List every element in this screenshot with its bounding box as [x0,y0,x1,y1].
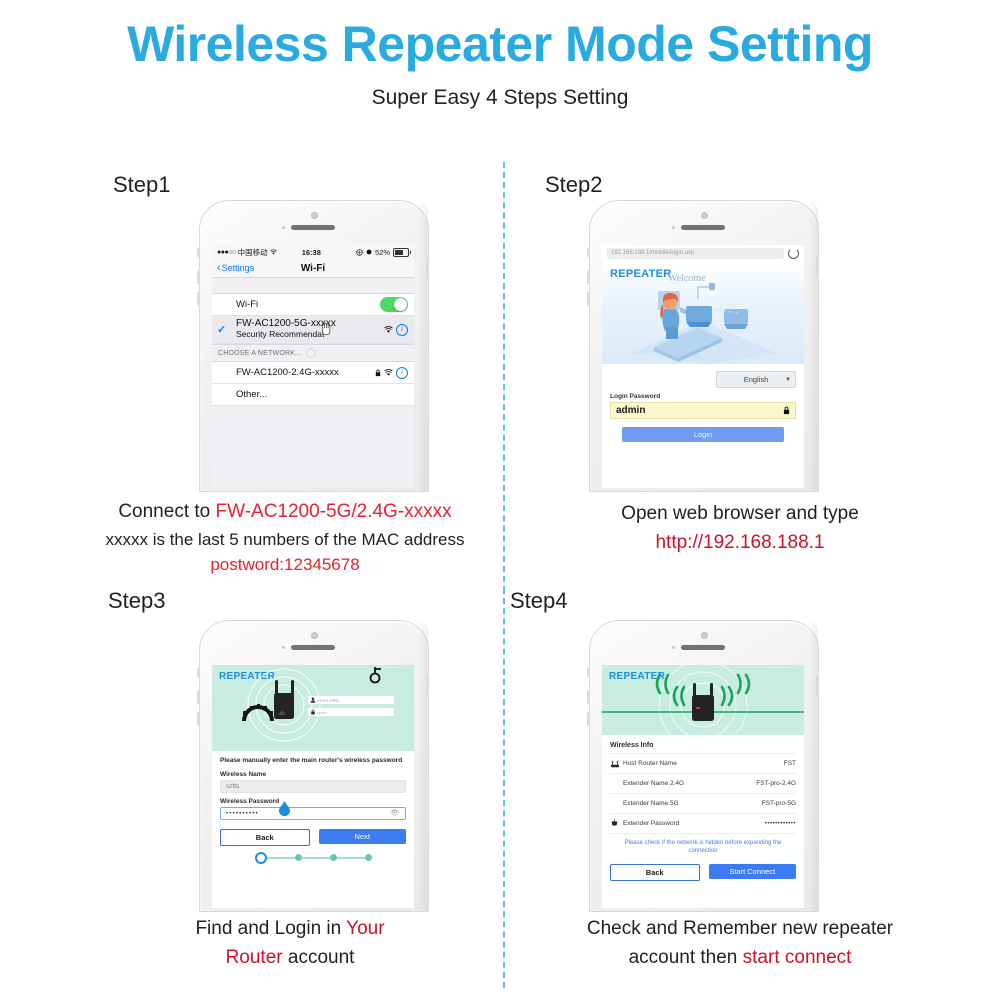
earpiece-speaker [681,225,725,230]
step-label-3: Step3 [108,588,166,614]
network-info-icon[interactable]: i [396,324,408,336]
caption-line1: Check and Remember new repeater [505,915,975,944]
wifi-toggle-row[interactable]: Wi-Fi [212,294,414,316]
poster-root: Wireless Repeater Mode Setting Super Eas… [0,0,1000,1000]
hidden-network-note: Please check if the network is hidden be… [610,833,796,855]
step-label-1: Step1 [113,172,171,198]
wireless-name-label: Wireless Name [212,766,414,780]
front-camera-icon [311,212,318,219]
row-key: Extender Name 2.4G [621,780,756,787]
caption-highlight: Your [346,918,384,939]
network-row-other[interactable]: Other... [212,384,414,406]
volume-down-button[interactable] [197,292,200,306]
wifi-icon [384,369,393,376]
progress-line [302,857,330,859]
wireless-name-input[interactable]: szfts [220,780,406,793]
table-row: Extender Name 5G FST-pro-5G [610,793,796,813]
volume-up-button[interactable] [587,690,590,704]
caption-highlight: start connect [743,947,852,968]
network-name: Other... [218,389,408,400]
device-password-value: •••••• [317,710,327,715]
row-key: Extender Password [621,820,765,827]
login-password-value: admin [616,405,783,416]
app-header-step3: REPEATER [212,665,414,751]
volume-down-button[interactable] [587,292,590,306]
caption-line2: xxxxx is the last 5 numbers of the MAC a… [60,527,510,553]
wireless-password-input[interactable]: •••••••••• 👁 [220,807,406,820]
url-input[interactable]: 192.168.188.1/mobile/login.asp [607,248,784,259]
row-key: Host Router Name [621,760,784,767]
device-user-field[interactable]: XXXX-PRO [308,696,394,704]
lock-icon [375,369,381,377]
start-connect-button[interactable]: Start Connect [709,864,797,879]
list-bottom-filler [212,406,414,488]
progress-dot-1 [255,852,267,864]
progress-line [267,857,295,859]
earpiece-speaker [681,645,725,650]
connected-network-name: FW-AC1200-5G-xxxxx [236,318,336,329]
wireless-info-title: Wireless Info [602,735,804,753]
phone-screen-step4: REPEATER [602,665,804,908]
phone-screen-step3: REPEATER [212,665,414,908]
step-label-2: Step2 [545,172,603,198]
mute-switch[interactable] [197,248,200,257]
phone-screen-step2: 192.168.188.1/mobile/login.asp REPEATER … [602,245,804,488]
progress-dot-2 [295,854,302,861]
proximity-sensor-icon [282,226,285,229]
step4-caption: Check and Remember new repeater account … [505,915,975,972]
volume-up-button[interactable] [197,690,200,704]
caption-prefix: Find and Login in [195,918,346,939]
mute-switch[interactable] [197,668,200,677]
isometric-desk-illustration [602,261,804,364]
caption-highlight-2: Router [226,947,283,968]
front-camera-icon [701,632,708,639]
back-button[interactable]: Back [220,829,310,846]
login-password-label: Login Password [610,393,796,400]
row-value: •••••••••••• [765,821,796,827]
mute-switch[interactable] [587,668,590,677]
volume-up-button[interactable] [587,270,590,284]
checkmark-icon: ✓ [217,323,226,336]
loading-spinner-icon [306,348,316,358]
caption-line3: postword:12345678 [60,552,510,578]
volume-up-button[interactable] [197,270,200,284]
network-name: FW-AC1200-2.4G-xxxxx [218,367,375,378]
power-button[interactable] [426,675,429,695]
step2-caption: Open web browser and type http://192.168… [505,500,975,557]
nav-title: Wi-Fi [212,263,414,274]
user-icon [310,697,316,703]
list-group-gap [212,278,414,294]
step3-caption: Find and Login in Your Router account [80,915,500,972]
phone-step1: ●●●○○ 中国移动 16:38 [199,200,427,490]
caption-prefix: Connect to [118,501,215,522]
battery-percent: 52% [375,248,390,257]
lock-icon [310,709,316,715]
choose-network-header: CHOOSE A NETWORK... [212,344,414,362]
connected-network-subtitle: Security Recommendat [236,329,324,339]
step-label-4: Step4 [510,588,568,614]
chevron-down-icon: ▼ [785,377,791,383]
step-progress-indicator [212,852,414,864]
section-header-label: CHOOSE A NETWORK... [218,350,302,357]
back-button[interactable]: Back [610,864,700,881]
router-icon [610,760,621,768]
row-value: FST [784,760,796,767]
proximity-sensor-icon [672,226,675,229]
row-key: Extender Name 5G [621,800,762,807]
network-info-icon[interactable]: i [396,367,408,379]
caption-suffix: account [283,947,355,968]
page-subtitle: Super Easy 4 Steps Setting [0,86,1000,110]
caption-highlight: FW-AC1200-5G/2.4G-xxxxx [216,501,452,522]
power-button[interactable] [816,675,819,695]
progress-dot-3 [330,854,337,861]
language-value: English [744,375,769,384]
table-row: Extender Name 2.4G FST-pro-2.4G [610,773,796,793]
signal-strength-icon: ●●●○○ [217,249,236,256]
progress-dot-4 [365,854,372,861]
carrier-name: 中国移动 [238,247,268,258]
wireless-password-label: Wireless Password [212,793,414,807]
wifi-icon [384,326,393,333]
location-icon [356,249,363,256]
eye-icon[interactable]: 👁 [390,809,400,817]
alarm-icon [366,249,372,255]
power-button[interactable] [426,255,429,275]
connected-network-row[interactable]: ✓ FW-AC1200-5G-xxxxx Security Recommenda… [212,316,414,344]
login-password-input[interactable]: admin [610,402,796,419]
extender-icon [610,819,621,828]
battery-icon [393,248,409,257]
proximity-sensor-icon [282,646,285,649]
power-button[interactable] [816,255,819,275]
row-value: FST-pro-2.4G [756,780,796,787]
device-user-value: XXXX-PRO [317,698,339,703]
volume-down-button[interactable] [587,712,590,726]
front-camera-icon [701,212,708,219]
wireless-name-value: szfts [226,783,239,790]
earpiece-speaker [291,225,335,230]
step3-button-row: Back Next [212,820,414,846]
app-header-step4: REPEATER [602,665,804,735]
row-value: FST-pro-5G [762,800,796,807]
phone-step3: REPEATER [199,620,427,910]
caption-line1: Open web browser and type [505,500,975,529]
caption-prefix: account then [629,947,743,968]
network-row-0[interactable]: FW-AC1200-2.4G-xxxxx i [212,362,414,384]
browser-url-bar: 192.168.188.1/mobile/login.asp [602,245,804,261]
login-button[interactable]: Login [622,427,784,442]
wireless-password-value: •••••••••• [226,810,259,817]
manual-entry-note: Please manually enter the main router's … [212,751,414,766]
ios-nav-bar: ‹ Settings Wi-Fi [212,259,414,278]
water-drop-pointer-icon [278,801,291,816]
table-row: Host Router Name FST [610,753,796,773]
phone-step2: 192.168.188.1/mobile/login.asp REPEATER … [589,200,817,490]
table-row: Extender Password •••••••••••• [610,813,796,833]
repeater-signal-illustration [602,665,804,735]
mute-switch[interactable] [587,248,590,257]
device-password-field[interactable]: •••••• [308,708,394,716]
next-button[interactable]: Next [319,829,407,844]
caption-line2: http://192.168.188.1 [505,529,975,558]
login-hero-illustration: REPEATER Welcome [602,261,804,364]
volume-down-button[interactable] [197,712,200,726]
language-select[interactable]: English ▼ [716,371,796,388]
phone-step4: REPEATER [589,620,817,910]
login-form: English ▼ Login Password admin Login [602,364,804,442]
lock-icon [783,406,790,415]
phone-screen-step1: ●●●○○ 中国移动 16:38 [212,245,414,488]
earpiece-speaker [291,645,335,650]
step4-button-row: Back Start Connect [602,855,804,881]
front-camera-icon [311,632,318,639]
wifi-toggle-label: Wi-Fi [218,299,380,310]
ios-status-bar: ●●●○○ 中国移动 16:38 [212,245,414,259]
proximity-sensor-icon [672,646,675,649]
wifi-toggle-switch[interactable] [380,297,408,312]
step1-caption: Connect to FW-AC1200-5G/2.4G-xxxxx xxxxx… [60,498,510,578]
reload-icon[interactable] [788,248,799,259]
status-time: 16:38 [267,248,356,257]
progress-line [337,857,365,859]
page-title: Wireless Repeater Mode Setting [0,16,1000,74]
